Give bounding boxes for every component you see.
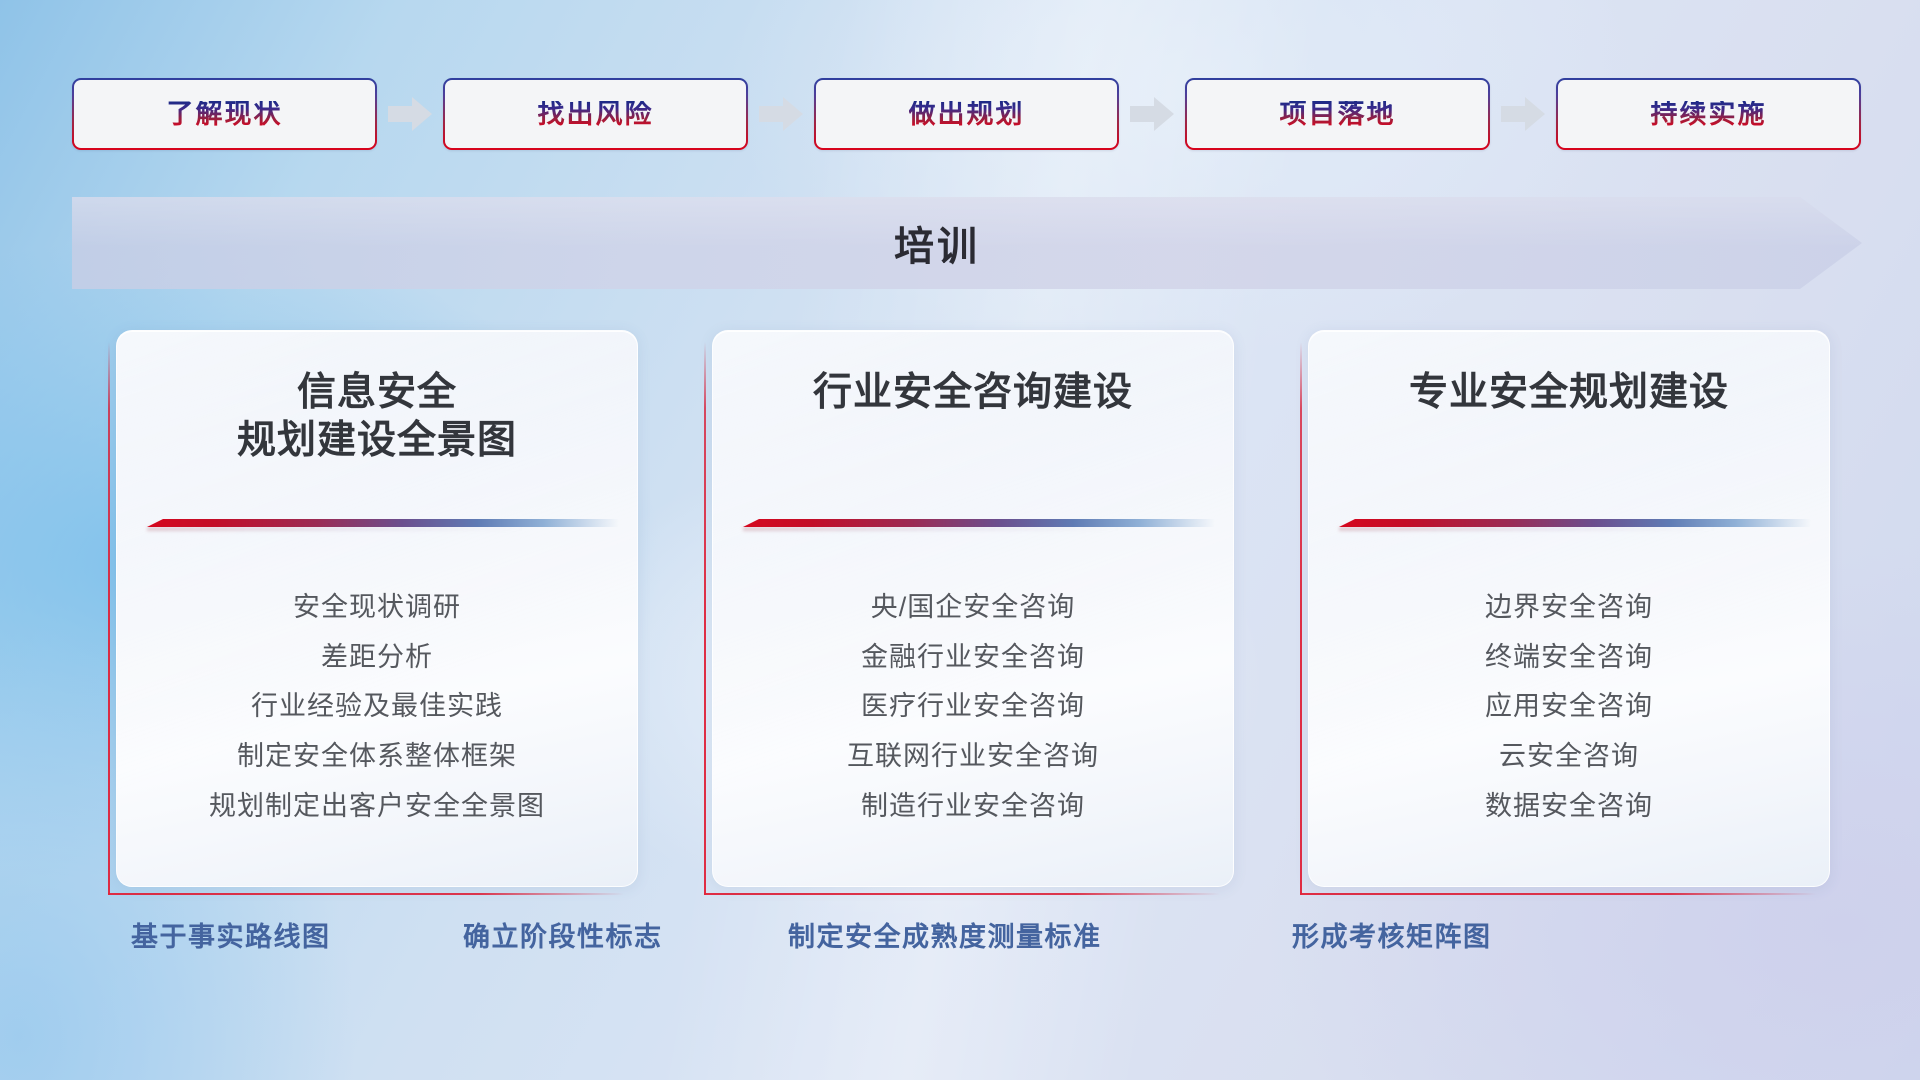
card-3-title: 专业安全规划建设 <box>1309 369 1829 417</box>
card-1-divider-shadow <box>147 527 619 531</box>
card-3-divider <box>1339 519 1811 532</box>
footer-label-3: 制定安全成熟度测量标准 <box>788 915 1102 954</box>
footer-label-2: 确立阶段性标志 <box>463 915 663 954</box>
card-2-title: 行业安全咨询建设 <box>713 369 1233 417</box>
list-item: 制定安全体系整体框架 <box>237 735 517 779</box>
process-step-5[interactable]: 持续实施 <box>1556 78 1861 150</box>
process-step-1-label: 了解现状 <box>167 101 283 128</box>
service-card-3[interactable]: 专业安全规划建设 边界安全咨询 终端安全咨询 应用安全咨询 云安全咨询 数据安全… <box>1300 330 1830 887</box>
arrow-right-icon <box>1130 97 1174 131</box>
process-step-1[interactable]: 了解现状 <box>72 78 377 150</box>
card-2-red-edge <box>704 342 706 895</box>
arrow-right-icon <box>1501 97 1545 131</box>
service-card-2[interactable]: 行业安全咨询建设 央/国企安全咨询 金融行业安全咨询 医疗行业安全咨询 互联网行… <box>704 330 1234 887</box>
process-step-2[interactable]: 找出风险 <box>443 78 748 150</box>
process-step-5-wrap: 持续实施 <box>1556 78 1861 150</box>
process-step-1-wrap: 了解现状 <box>72 78 377 150</box>
list-item: 医疗行业安全咨询 <box>861 685 1085 729</box>
card-1-red-edge <box>108 342 110 895</box>
process-step-4-label: 项目落地 <box>1280 101 1396 128</box>
card-2-divider-shadow <box>743 527 1215 531</box>
list-item: 应用安全咨询 <box>1485 685 1653 729</box>
training-banner: 培训 <box>72 197 1862 289</box>
list-item: 边界安全咨询 <box>1485 586 1653 630</box>
card-3-divider-shadow <box>1339 527 1811 531</box>
list-item: 金融行业安全咨询 <box>861 636 1085 680</box>
card-2-item-list: 央/国企安全咨询 金融行业安全咨询 医疗行业安全咨询 互联网行业安全咨询 制造行… <box>713 586 1233 829</box>
process-step-3-wrap: 做出规划 <box>814 78 1119 150</box>
process-step-5-label: 持续实施 <box>1651 101 1767 128</box>
card-2-body: 行业安全咨询建设 央/国企安全咨询 金融行业安全咨询 医疗行业安全咨询 互联网行… <box>712 330 1234 887</box>
footer-label-1: 基于事实路线图 <box>131 915 331 954</box>
service-card-row: 信息安全 规划建设全景图 安全现状调研 差距分析 行业经验及最佳实践 制定安全体… <box>108 330 1830 887</box>
card-3-red-base <box>1300 893 1816 895</box>
arrow-right-icon <box>388 97 432 131</box>
footer-label-4: 形成考核矩阵图 <box>1292 915 1492 954</box>
list-item: 互联网行业安全咨询 <box>847 735 1099 779</box>
process-step-row: 了解现状 找出风险 做出规划 项目落地 <box>72 78 1848 150</box>
process-step-4-wrap: 项目落地 <box>1185 78 1490 150</box>
list-item: 安全现状调研 <box>293 586 461 630</box>
card-2-divider <box>743 519 1215 532</box>
list-item: 数据安全咨询 <box>1485 785 1653 829</box>
card-3-body: 专业安全规划建设 边界安全咨询 终端安全咨询 应用安全咨询 云安全咨询 数据安全… <box>1308 330 1830 887</box>
card-1-item-list: 安全现状调研 差距分析 行业经验及最佳实践 制定安全体系整体框架 规划制定出客户… <box>117 586 637 829</box>
list-item: 制造行业安全咨询 <box>861 785 1085 829</box>
list-item: 云安全咨询 <box>1499 735 1639 779</box>
card-1-divider <box>147 519 619 532</box>
card-1-body: 信息安全 规划建设全景图 安全现状调研 差距分析 行业经验及最佳实践 制定安全体… <box>116 330 638 887</box>
card-3-red-edge <box>1300 342 1302 895</box>
footer-label-row: 基于事实路线图 确立阶段性标志 制定安全成熟度测量标准 形成考核矩阵图 <box>0 915 1920 971</box>
banner-title: 培训 <box>72 197 1862 289</box>
process-step-4[interactable]: 项目落地 <box>1185 78 1490 150</box>
card-3-item-list: 边界安全咨询 终端安全咨询 应用安全咨询 云安全咨询 数据安全咨询 <box>1309 586 1829 829</box>
card-1-red-base <box>108 893 624 895</box>
list-item: 终端安全咨询 <box>1485 636 1653 680</box>
list-item: 央/国企安全咨询 <box>871 586 1076 630</box>
process-step-3[interactable]: 做出规划 <box>814 78 1119 150</box>
process-step-3-label: 做出规划 <box>909 101 1025 128</box>
arrow-right-icon <box>759 97 803 131</box>
list-item: 差距分析 <box>321 636 433 680</box>
card-1-title: 信息安全 规划建设全景图 <box>117 369 637 464</box>
service-card-1[interactable]: 信息安全 规划建设全景图 安全现状调研 差距分析 行业经验及最佳实践 制定安全体… <box>108 330 638 887</box>
process-step-2-wrap: 找出风险 <box>443 78 748 150</box>
slide-stage: 了解现状 找出风险 做出规划 项目落地 <box>0 0 1920 1080</box>
card-2-red-base <box>704 893 1220 895</box>
process-step-2-label: 找出风险 <box>538 101 654 128</box>
list-item: 行业经验及最佳实践 <box>251 685 503 729</box>
list-item: 规划制定出客户安全全景图 <box>209 785 545 829</box>
